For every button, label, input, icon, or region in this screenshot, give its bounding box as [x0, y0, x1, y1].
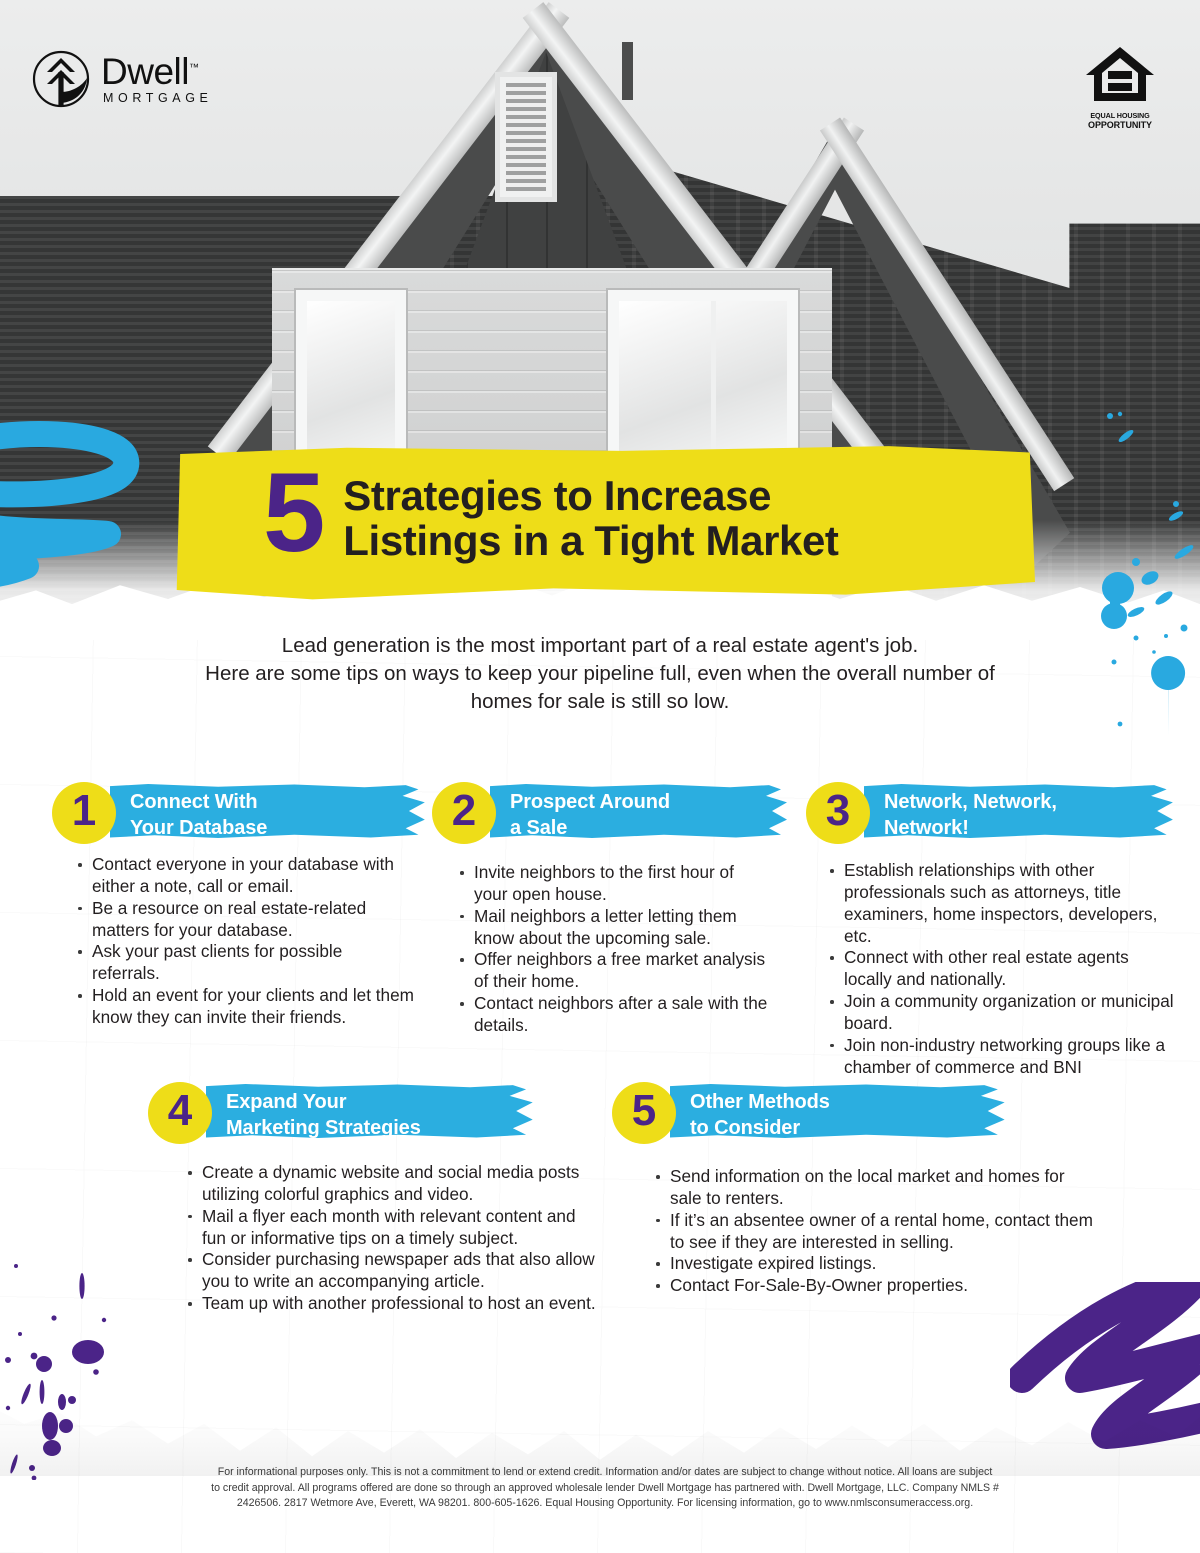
list-item: Join a community organization or municip…: [822, 991, 1174, 1035]
title-banner: 5 Strategies to Increase Listings in a T…: [175, 443, 1035, 601]
card-1-title-line-1: Connect With: [130, 790, 267, 816]
logo-dwell-label: Dwell: [101, 51, 189, 92]
disclaimer-line-3: 2426506. 2817 Wetmore Ave, Everett, WA 9…: [95, 1496, 1115, 1512]
list-item: Connect with other real estate agents lo…: [822, 947, 1174, 991]
logo-mortgage-label: MORTGAGE: [101, 92, 213, 105]
title-text-block: Strategies to Increase Listings in a Tig…: [343, 474, 838, 563]
card-2-header: 2 Prospect Around a Sale: [432, 782, 802, 844]
card-3-number-badge: 3: [806, 782, 870, 844]
list-item: Contact For-Sale-By-Owner properties.: [648, 1275, 1094, 1297]
card-5-number-badge: 5: [612, 1082, 676, 1144]
equal-housing-line-2: OPPORTUNITY: [1084, 121, 1156, 130]
card-1-title: Connect With Your Database: [130, 790, 267, 841]
list-item: Mail neighbors a letter letting them kno…: [452, 906, 772, 950]
card-5-bullet-list: Send information on the local market and…: [612, 1166, 1094, 1297]
card-5-title: Other Methods to Consider: [690, 1090, 830, 1141]
list-item: Be a resource on real estate-related mat…: [70, 898, 414, 942]
card-3-title: Network, Network, Network!: [884, 790, 1057, 841]
card-3-header: 3 Network, Network, Network!: [806, 782, 1186, 844]
intro-line-2: Here are some tips on ways to keep your …: [110, 660, 1090, 688]
equal-housing-logo: EQUAL HOUSING OPPORTUNITY: [1084, 44, 1156, 130]
card-4-header: 4 Expand Your Marketing Strategies: [148, 1082, 608, 1144]
list-item: Contact neighbors after a sale with the …: [452, 993, 772, 1037]
card-4-title: Expand Your Marketing Strategies: [226, 1090, 421, 1141]
strategy-card-2: 2 Prospect Around a Sale Invite neighbor…: [432, 782, 802, 1037]
card-1-bullet-list: Contact everyone in your database with e…: [52, 854, 414, 1029]
list-item: Hold an event for your clients and let t…: [70, 985, 414, 1029]
card-5-header: 5 Other Methods to Consider: [612, 1082, 1102, 1144]
list-item: Contact everyone in your database with e…: [70, 854, 414, 898]
list-item: Send information on the local market and…: [648, 1166, 1094, 1210]
card-4-number-badge: 4: [148, 1082, 212, 1144]
list-item: Investigate expired listings.: [648, 1253, 1094, 1275]
intro-line-1: Lead generation is the most important pa…: [110, 632, 1090, 660]
list-item: Team up with another professional to hos…: [180, 1293, 600, 1315]
blue-paint-splatter: [1080, 400, 1200, 740]
equal-housing-line-1: EQUAL HOUSING: [1084, 112, 1156, 120]
vent-slats: [506, 83, 546, 191]
strategy-card-5: 5 Other Methods to Consider Send informa…: [612, 1082, 1102, 1297]
chimney: [622, 42, 633, 100]
card-4-bullet-list: Create a dynamic website and social medi…: [148, 1162, 600, 1315]
list-item: Consider purchasing newspaper ads that a…: [180, 1249, 600, 1293]
logo-trademark: ™: [189, 63, 199, 74]
card-2-number-badge: 2: [432, 782, 496, 844]
strategy-card-3: 3 Network, Network, Network! Establish r…: [806, 782, 1186, 1078]
list-item: Join non-industry networking groups like…: [822, 1035, 1174, 1079]
strategy-card-4: 4 Expand Your Marketing Strategies Creat…: [148, 1082, 608, 1315]
card-5-title-line-2: to Consider: [690, 1116, 830, 1142]
dwell-mortgage-logo[interactable]: Dwell™ MORTGAGE: [30, 48, 213, 110]
card-4-title-line-1: Expand Your: [226, 1090, 421, 1116]
disclaimer-line-2: to credit approval. All programs offered…: [95, 1481, 1115, 1497]
intro-paragraph: Lead generation is the most important pa…: [110, 632, 1090, 716]
list-item: Establish relationships with other profe…: [822, 860, 1174, 947]
dwell-tree-mark-icon: [30, 48, 92, 110]
card-2-title-line-2: a Sale: [510, 816, 670, 842]
disclaimer-line-1: For informational purposes only. This is…: [95, 1465, 1115, 1481]
title-line-2: Listings in a Tight Market: [343, 519, 838, 564]
list-item: Create a dynamic website and social medi…: [180, 1162, 600, 1206]
title-line-1: Strategies to Increase: [343, 474, 838, 519]
list-item: Offer neighbors a free market analysis o…: [452, 949, 772, 993]
card-3-title-line-1: Network, Network,: [884, 790, 1057, 816]
card-1-number-badge: 1: [52, 782, 116, 844]
legal-disclaimer: For informational purposes only. This is…: [95, 1465, 1115, 1512]
list-item: Invite neighbors to the first hour of yo…: [452, 862, 772, 906]
list-item: If it’s an absentee owner of a rental ho…: [648, 1210, 1094, 1254]
card-1-title-line-2: Your Database: [130, 816, 267, 842]
card-2-title-line-1: Prospect Around: [510, 790, 670, 816]
card-3-bullet-list: Establish relationships with other profe…: [806, 860, 1174, 1078]
card-4-title-line-2: Marketing Strategies: [226, 1116, 421, 1142]
intro-line-3: homes for sale is still so low.: [110, 688, 1090, 716]
attic-louver-vent: [495, 72, 557, 202]
list-item: Mail a flyer each month with relevant co…: [180, 1206, 600, 1250]
title-number: 5: [263, 465, 323, 561]
logo-dwell-text: Dwell™: [101, 53, 213, 90]
equal-housing-house-icon: [1084, 44, 1156, 106]
card-5-title-line-1: Other Methods: [690, 1090, 830, 1116]
card-3-title-line-2: Network!: [884, 816, 1057, 842]
card-1-header: 1 Connect With Your Database: [52, 782, 432, 844]
card-2-bullet-list: Invite neighbors to the first hour of yo…: [432, 862, 772, 1037]
dwell-wordmark: Dwell™ MORTGAGE: [101, 53, 213, 105]
card-2-title: Prospect Around a Sale: [510, 790, 670, 841]
strategy-card-1: 1 Connect With Your Database Contact eve…: [52, 782, 432, 1029]
list-item: Ask your past clients for possible refer…: [70, 941, 414, 985]
